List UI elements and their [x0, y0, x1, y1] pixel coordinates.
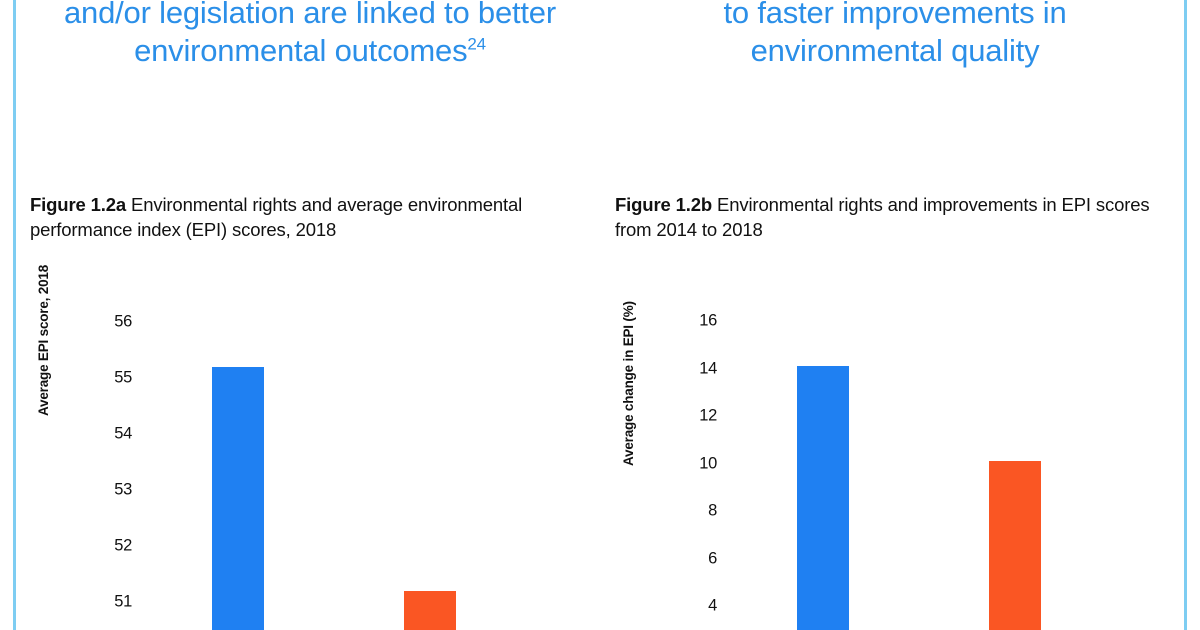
headline-left-line-2-text: environmental outcomes — [134, 33, 467, 68]
bar-without-environmental-rights — [989, 461, 1041, 630]
y-tick-label: 55 — [114, 369, 132, 388]
y-tick-label: 54 — [114, 425, 132, 444]
y-axis-ticks-left: 565554535251 — [68, 300, 132, 630]
figure-caption-left: Figure 1.2a Environmental rights and ave… — [30, 192, 590, 242]
y-tick-label: 51 — [114, 593, 132, 612]
headline-right-line-1: to faster improvements in — [615, 0, 1175, 32]
headline-left-line-2: environmental outcomes24 — [30, 32, 590, 70]
y-tick-label: 14 — [699, 359, 717, 378]
page-canvas: rights provisions in constitutions and/o… — [0, 0, 1200, 630]
y-tick-label: 53 — [114, 481, 132, 500]
y-tick-label: 56 — [114, 313, 132, 332]
plot-area-right — [719, 300, 1175, 630]
headline-left-line-1: and/or legislation are linked to better — [30, 0, 590, 32]
figure-label-left: Figure 1.2a — [30, 194, 126, 215]
left-border-rule — [13, 0, 16, 630]
right-border-rule — [1184, 0, 1187, 630]
chart-left: Average EPI score, 2018 565554535251 — [30, 300, 590, 630]
y-tick-label: 12 — [699, 407, 717, 426]
headline-right: environmental rights is also linked to f… — [615, 0, 1175, 70]
y-axis-title-left: Average EPI score, 2018 — [36, 265, 51, 416]
plot-area-left — [134, 300, 590, 630]
y-axis-ticks-right: 16141210864 — [653, 300, 717, 630]
y-tick-label: 52 — [114, 537, 132, 556]
bar-without-environmental-rights — [404, 591, 456, 630]
bar-with-environmental-rights — [212, 367, 264, 630]
headline-left-footnote-marker: 24 — [467, 35, 486, 54]
y-axis-title-right: Average change in EPI (%) — [621, 301, 636, 466]
y-tick-label: 8 — [708, 502, 717, 521]
panel-left: rights provisions in constitutions and/o… — [30, 0, 590, 630]
chart-right: Average change in EPI (%) 16141210864 — [615, 300, 1175, 630]
y-tick-label: 16 — [699, 312, 717, 331]
headline-right-line-2: environmental quality — [615, 32, 1175, 70]
headline-left: rights provisions in constitutions and/o… — [30, 0, 590, 70]
y-tick-label: 6 — [708, 549, 717, 568]
y-tick-label: 10 — [699, 454, 717, 473]
figure-label-right: Figure 1.2b — [615, 194, 712, 215]
figure-caption-right: Figure 1.2b Environmental rights and imp… — [615, 192, 1175, 242]
y-tick-label: 4 — [708, 597, 717, 616]
bar-with-environmental-rights — [797, 366, 849, 630]
panel-right: environmental rights is also linked to f… — [615, 0, 1175, 630]
